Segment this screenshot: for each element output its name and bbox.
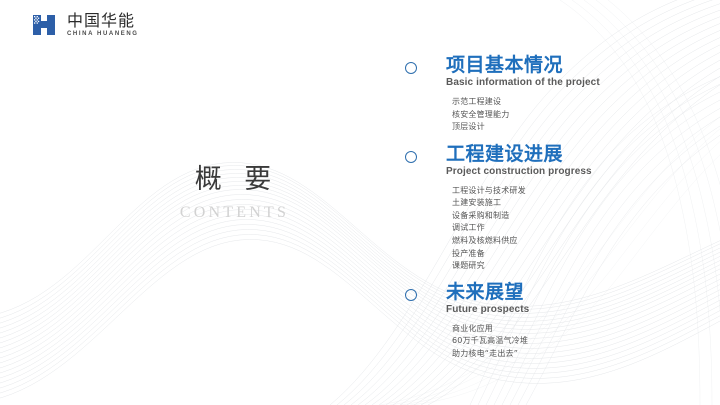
contents-title-en: CONTENTS (148, 204, 318, 222)
list-item: 设备采购和制造 (452, 210, 702, 223)
section-2-items: 工程设计与技术研发 土建安装施工 设备采购和制造 调试工作 燃料及核燃料供应 投… (446, 185, 702, 273)
list-item: 核安全管理能力 (452, 109, 702, 122)
section-1-items: 示范工程建设 核安全管理能力 顶层设计 (446, 96, 702, 134)
list-item: 商业化应用 (452, 323, 702, 336)
agenda-section-2[interactable]: 工程建设进展 Project construction progress 工程设… (402, 145, 702, 273)
list-item: 土建安装施工 (452, 197, 702, 210)
section-1-title-en: Basic information of the project (446, 77, 702, 88)
huaneng-logo-icon (30, 12, 60, 38)
list-item: 60万千瓦高温气冷堆 (452, 335, 702, 348)
list-item: 顶层设计 (452, 121, 702, 134)
section-2-title-cn: 工程建设进展 (446, 145, 702, 165)
section-2-title-en: Project construction progress (446, 166, 702, 177)
circle-bullet-icon (405, 151, 417, 163)
list-item: 课题研究 (452, 260, 702, 273)
list-item: 示范工程建设 (452, 96, 702, 109)
section-1-title-cn: 项目基本情况 (446, 56, 702, 76)
contents-heading: 概 要 CONTENTS (148, 165, 318, 222)
list-item: 助力核电“走出去” (452, 348, 702, 361)
list-item: 燃料及核燃料供应 (452, 235, 702, 248)
agenda-section-1[interactable]: 项目基本情况 Basic information of the project … (402, 56, 702, 134)
list-item: 投产准备 (452, 248, 702, 261)
section-3-title-en: Future prospects (446, 304, 702, 315)
circle-bullet-icon (405, 62, 417, 74)
logo-name-cn: 中国华能 (67, 13, 139, 29)
brand-logo: 中国华能 CHINA HUANENG (30, 12, 139, 38)
logo-name-en: CHINA HUANENG (67, 31, 139, 37)
list-item: 工程设计与技术研发 (452, 185, 702, 198)
section-3-items: 商业化应用 60万千瓦高温气冷堆 助力核电“走出去” (446, 323, 702, 361)
presentation-slide: 中国华能 CHINA HUANENG 概 要 CONTENTS 项目基本情况 B… (0, 0, 720, 405)
contents-title-cn: 概 要 (148, 165, 318, 195)
list-item: 调试工作 (452, 222, 702, 235)
logo-text: 中国华能 CHINA HUANENG (67, 13, 139, 37)
section-3-title-cn: 未来展望 (446, 283, 702, 303)
agenda-section-3[interactable]: 未来展望 Future prospects 商业化应用 60万千瓦高温气冷堆 助… (402, 283, 702, 361)
circle-bullet-icon (405, 289, 417, 301)
agenda-sections: 项目基本情况 Basic information of the project … (402, 56, 702, 361)
